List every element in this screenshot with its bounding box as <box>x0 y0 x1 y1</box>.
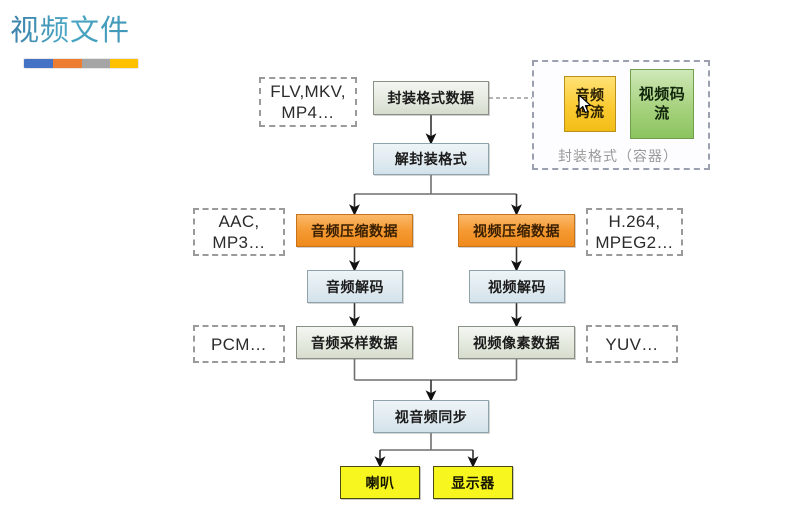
note-container-formats: FLV,MKV, MP4… <box>259 77 357 127</box>
node-audio-decode-label: 音频解码 <box>326 277 384 297</box>
container-format-group-label: 封装格式（容器） <box>558 146 678 166</box>
node-audio-stream-label: 音频码流 <box>573 87 607 121</box>
container-format-group: 音频码流 视频码流 封装格式（容器） <box>532 60 710 170</box>
node-monitor-label: 显示器 <box>451 473 495 493</box>
note-video-codecs-label: H.264, MPEG2… <box>595 211 673 253</box>
node-speaker-label: 喇叭 <box>366 473 395 493</box>
node-audio-stream[interactable]: 音频码流 <box>564 76 616 132</box>
note-yuv: YUV… <box>586 325 678 363</box>
node-audio-samples[interactable]: 音频采样数据 <box>296 326 413 359</box>
node-audio-samples-label: 音频采样数据 <box>311 333 398 353</box>
node-av-sync[interactable]: 视音频同步 <box>373 400 489 433</box>
node-audio-decode[interactable]: 音频解码 <box>307 270 403 303</box>
node-speaker[interactable]: 喇叭 <box>340 466 420 499</box>
node-video-pixels[interactable]: 视频像素数据 <box>458 326 575 359</box>
note-pcm: PCM… <box>193 325 285 363</box>
node-video-stream-label: 视频码流 <box>638 85 686 123</box>
node-demux[interactable]: 解封装格式 <box>373 143 489 175</box>
note-pcm-label: PCM… <box>211 334 267 355</box>
video-decode-flowchart: FLV,MKV, MP4… 封装格式数据 解封装格式 AAC, MP3… 音频压… <box>0 0 797 531</box>
node-muxed-data-label: 封装格式数据 <box>388 88 475 108</box>
node-video-compressed[interactable]: 视频压缩数据 <box>458 214 575 247</box>
note-video-codecs: H.264, MPEG2… <box>586 208 683 256</box>
node-audio-compressed[interactable]: 音频压缩数据 <box>296 214 413 247</box>
note-yuv-label: YUV… <box>605 334 658 355</box>
node-av-sync-label: 视音频同步 <box>395 407 468 427</box>
node-video-stream[interactable]: 视频码流 <box>630 69 694 139</box>
note-container-formats-label: FLV,MKV, MP4… <box>270 81 345 123</box>
node-video-decode-label: 视频解码 <box>488 277 546 297</box>
node-video-decode[interactable]: 视频解码 <box>469 270 565 303</box>
note-audio-codecs: AAC, MP3… <box>193 208 285 256</box>
node-video-compressed-label: 视频压缩数据 <box>473 221 560 241</box>
node-video-pixels-label: 视频像素数据 <box>473 333 560 353</box>
node-muxed-data[interactable]: 封装格式数据 <box>373 81 489 115</box>
note-audio-codecs-label: AAC, MP3… <box>212 211 265 253</box>
node-demux-label: 解封装格式 <box>395 149 468 169</box>
node-audio-compressed-label: 音频压缩数据 <box>311 221 398 241</box>
node-monitor[interactable]: 显示器 <box>433 466 513 499</box>
